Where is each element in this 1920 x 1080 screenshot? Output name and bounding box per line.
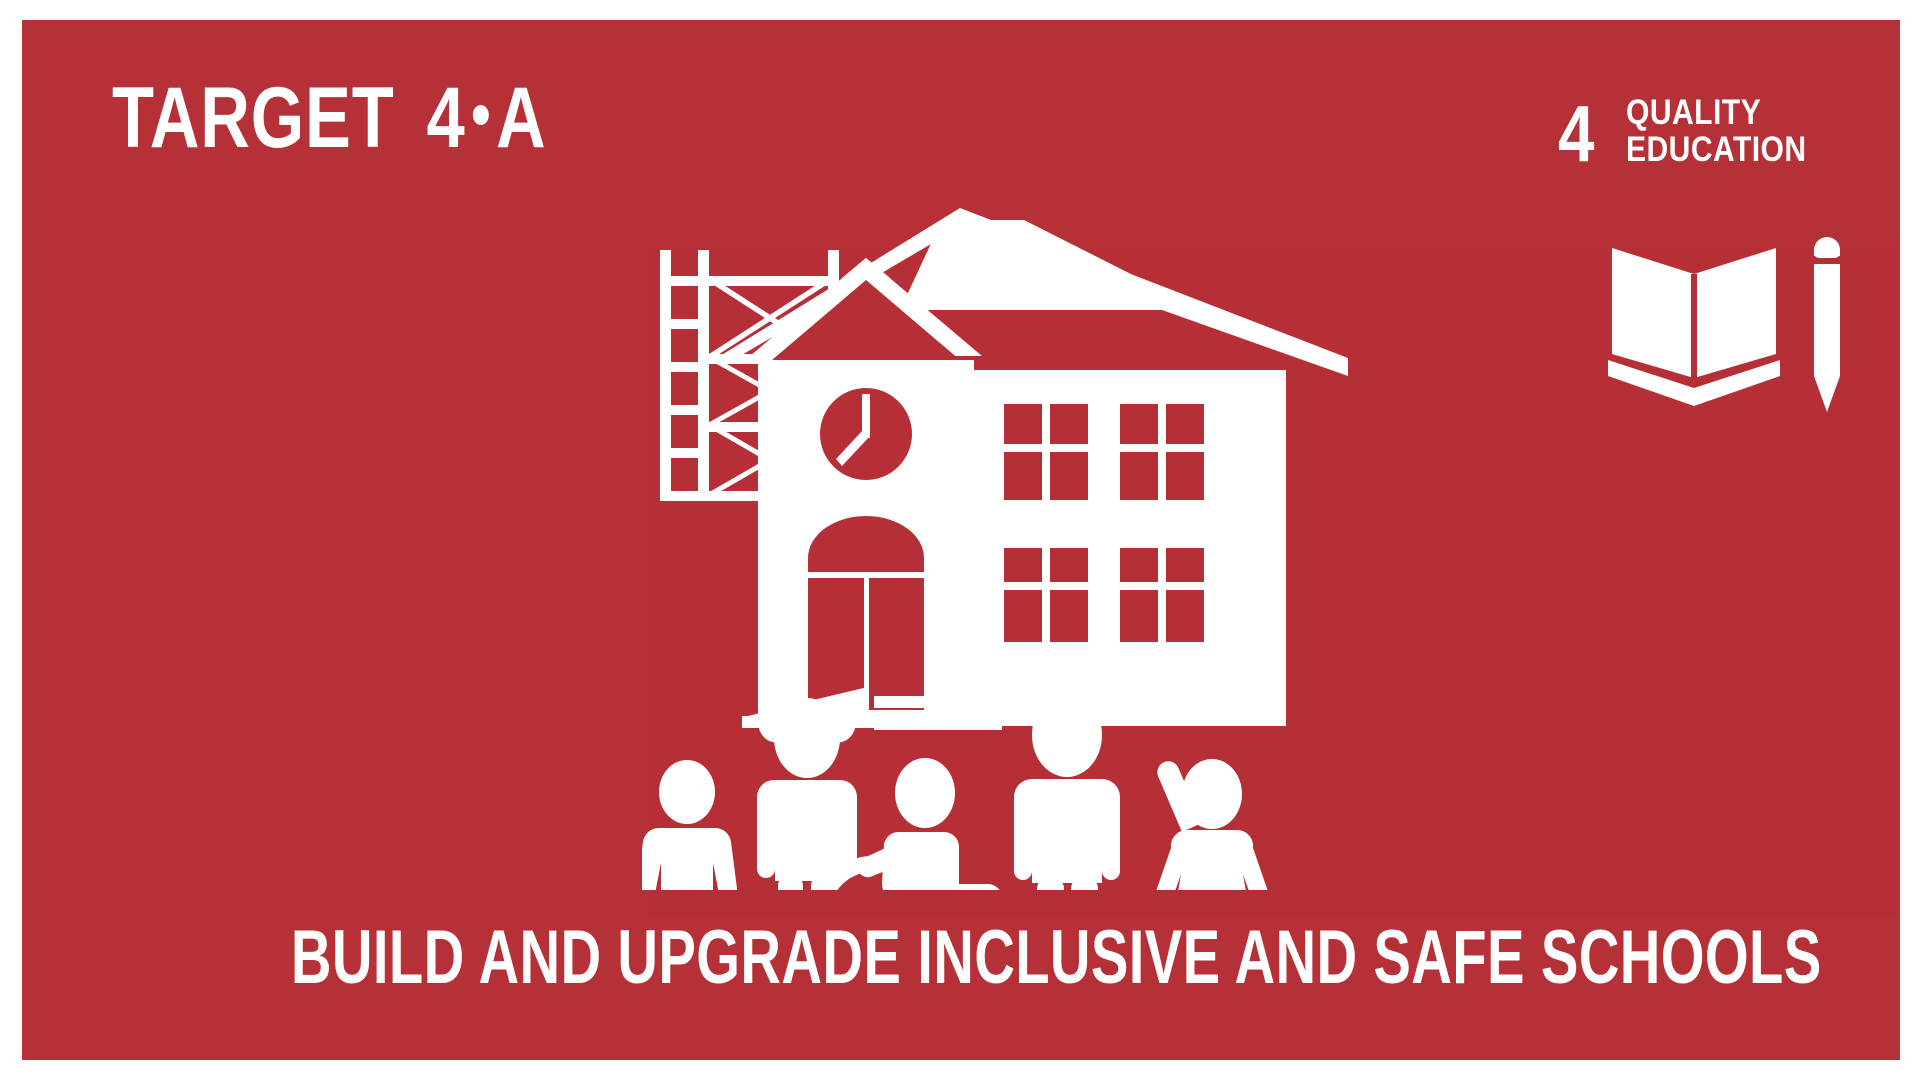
pupil-child-icon: [642, 760, 739, 890]
caption-text: BUILD AND UPGRADE INCLUSIVE AND SAFE SCH…: [291, 920, 1822, 996]
open-book-and-pencil-icon: [1606, 226, 1866, 416]
target-number: 4: [427, 70, 466, 166]
target-label: TARGET: [112, 70, 395, 166]
caption: BUILD AND UPGRADE INCLUSIVE AND SAFE SCH…: [22, 920, 1900, 996]
target-separator-dot-icon: [473, 105, 489, 125]
sdg-goal-badge: 4 QUALITY EDUCATION: [1558, 76, 1898, 406]
page-title: TARGET4A: [112, 75, 546, 161]
sdg-target-card: TARGET4A 4 QUALITY EDUCATION: [22, 20, 1900, 1060]
school-illustration: [642, 160, 1362, 890]
sdg-goal-number: 4: [1558, 94, 1594, 174]
sdg-goal-name-line-1: QUALITY: [1626, 94, 1807, 131]
pupil-girl-waving-icon: [1152, 759, 1271, 890]
clock-icon: [820, 388, 912, 480]
infographic-canvas: TARGET4A 4 QUALITY EDUCATION: [0, 0, 1920, 1080]
pupil-girl-pigtails-icon: [753, 698, 862, 890]
school-building-icon: [720, 208, 1348, 730]
sdg-goal-name: QUALITY EDUCATION: [1626, 94, 1807, 168]
sdg-goal-name-line-2: EDUCATION: [1626, 131, 1807, 168]
target-letter: A: [496, 70, 546, 166]
